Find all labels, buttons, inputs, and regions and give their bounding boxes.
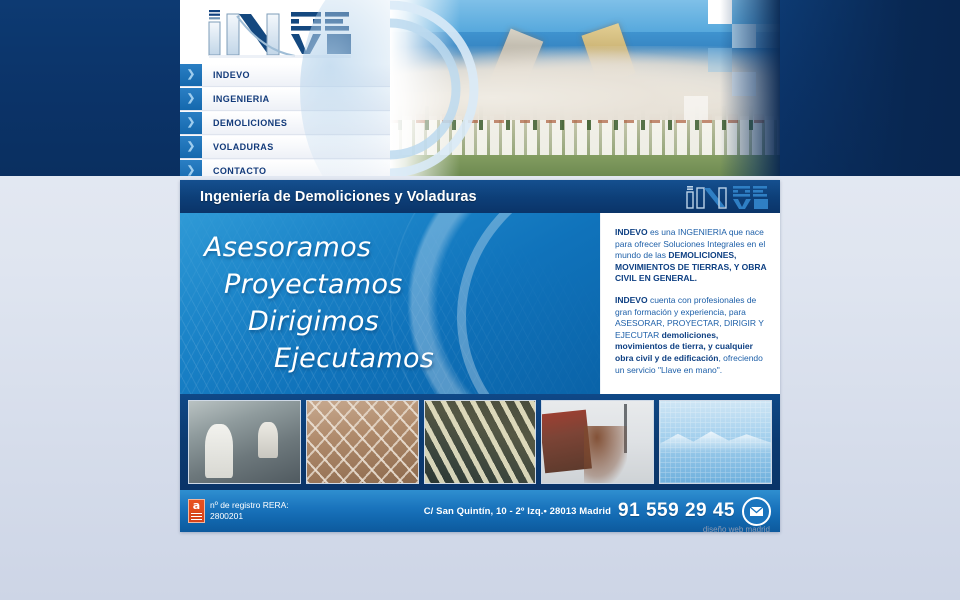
footer-phone: 91 559 29 45 — [618, 500, 735, 522]
crane-detail — [624, 404, 627, 453]
chevron-right-icon: ❯ — [180, 112, 202, 134]
rera-label: nº de registro RERA: — [210, 500, 289, 511]
nav-label: INGENIERIA — [202, 94, 270, 104]
nav-label: VOLADURAS — [202, 142, 274, 152]
nav-item-ingenieria[interactable]: ❯ INGENIERIA — [180, 88, 390, 111]
thumbnail-item[interactable] — [659, 400, 772, 484]
nav-item-voladuras[interactable]: ❯ VOLADURAS — [180, 136, 390, 159]
nav-item-indevo[interactable]: ❯ INDEVO — [180, 64, 390, 87]
indevo-logo[interactable] — [203, 6, 363, 58]
envelope-icon[interactable] — [742, 497, 771, 526]
chevron-right-icon: ❯ — [180, 64, 202, 86]
page-root: ❯ INDEVO ❯ INGENIERIA ❯ DEMOLICIONES ❯ V… — [0, 0, 960, 600]
page-banner: Ingeniería de Demoliciones y Voladuras — [180, 180, 780, 213]
slogan-line: Dirigimos — [180, 303, 600, 340]
nav-item-contacto[interactable]: ❯ CONTACTO — [180, 160, 390, 176]
header-card: ❯ INDEVO ❯ INGENIERIA ❯ DEMOLICIONES ❯ V… — [180, 0, 390, 176]
footer-contact: C/ San Quintín, 10 - 2º Izq.• 28013 Madr… — [424, 497, 771, 526]
nav-label: INDEVO — [202, 70, 250, 80]
thumbnail-item[interactable] — [541, 400, 654, 484]
rera-a-letter: a — [193, 500, 200, 511]
page-title: Ingeniería de Demoliciones y Voladuras — [180, 189, 477, 205]
slogan-line: Asesoramos — [180, 229, 600, 266]
hero-row: Asesoramos Proyectamos Dirigimos Ejecuta… — [180, 213, 780, 394]
rera-bars — [191, 512, 202, 520]
rera-text-block: nº de registro RERA: 2800201 — [210, 500, 289, 522]
rera-number: 2800201 — [210, 511, 289, 522]
header-band-shade — [780, 0, 960, 176]
intro-paragraph-2: INDEVO cuenta con profesionales de gran … — [615, 295, 768, 376]
footer-address: C/ San Quintín, 10 - 2º Izq.• 28013 Madr… — [424, 506, 611, 517]
chevron-right-icon: ❯ — [180, 136, 202, 158]
slogan-line: Proyectamos — [180, 266, 600, 303]
intro-paragraph-1: INDEVO es una INGENIERIA que nace para o… — [615, 227, 768, 285]
design-credit[interactable]: diseño web madrid — [180, 525, 780, 534]
slogan-list: Asesoramos Proyectamos Dirigimos Ejecuta… — [180, 213, 600, 394]
thumbnail-item[interactable] — [188, 400, 301, 484]
chevron-right-icon: ❯ — [180, 88, 202, 110]
content-card: Ingeniería de Demoliciones y Voladuras — [180, 180, 780, 532]
nav-label: CONTACTO — [202, 166, 266, 176]
rera-a-icon: a — [188, 499, 205, 523]
photo-right-fade — [720, 0, 780, 176]
nav-item-demoliciones[interactable]: ❯ DEMOLICIONES — [180, 112, 390, 135]
header-demolition-photo — [390, 0, 780, 176]
hero-slogan-panel: Asesoramos Proyectamos Dirigimos Ejecuta… — [180, 213, 600, 394]
thumbnail-item[interactable] — [424, 400, 537, 484]
intro-text-panel: INDEVO es una INGENIERIA que nace para o… — [600, 213, 780, 394]
slogan-line: Ejecutamos — [180, 340, 600, 377]
nav-label: DEMOLICIONES — [202, 118, 287, 128]
rera-registration: a nº de registro RERA: 2800201 — [188, 499, 289, 523]
thumbnail-item[interactable] — [306, 400, 419, 484]
thumbnail-strip — [180, 394, 780, 490]
main-navigation[interactable]: ❯ INDEVO ❯ INGENIERIA ❯ DEMOLICIONES ❯ V… — [180, 64, 390, 176]
chevron-right-icon: ❯ — [180, 160, 202, 176]
decorative-arcs-header — [390, 0, 520, 176]
indevo-logo-small[interactable] — [685, 184, 771, 210]
